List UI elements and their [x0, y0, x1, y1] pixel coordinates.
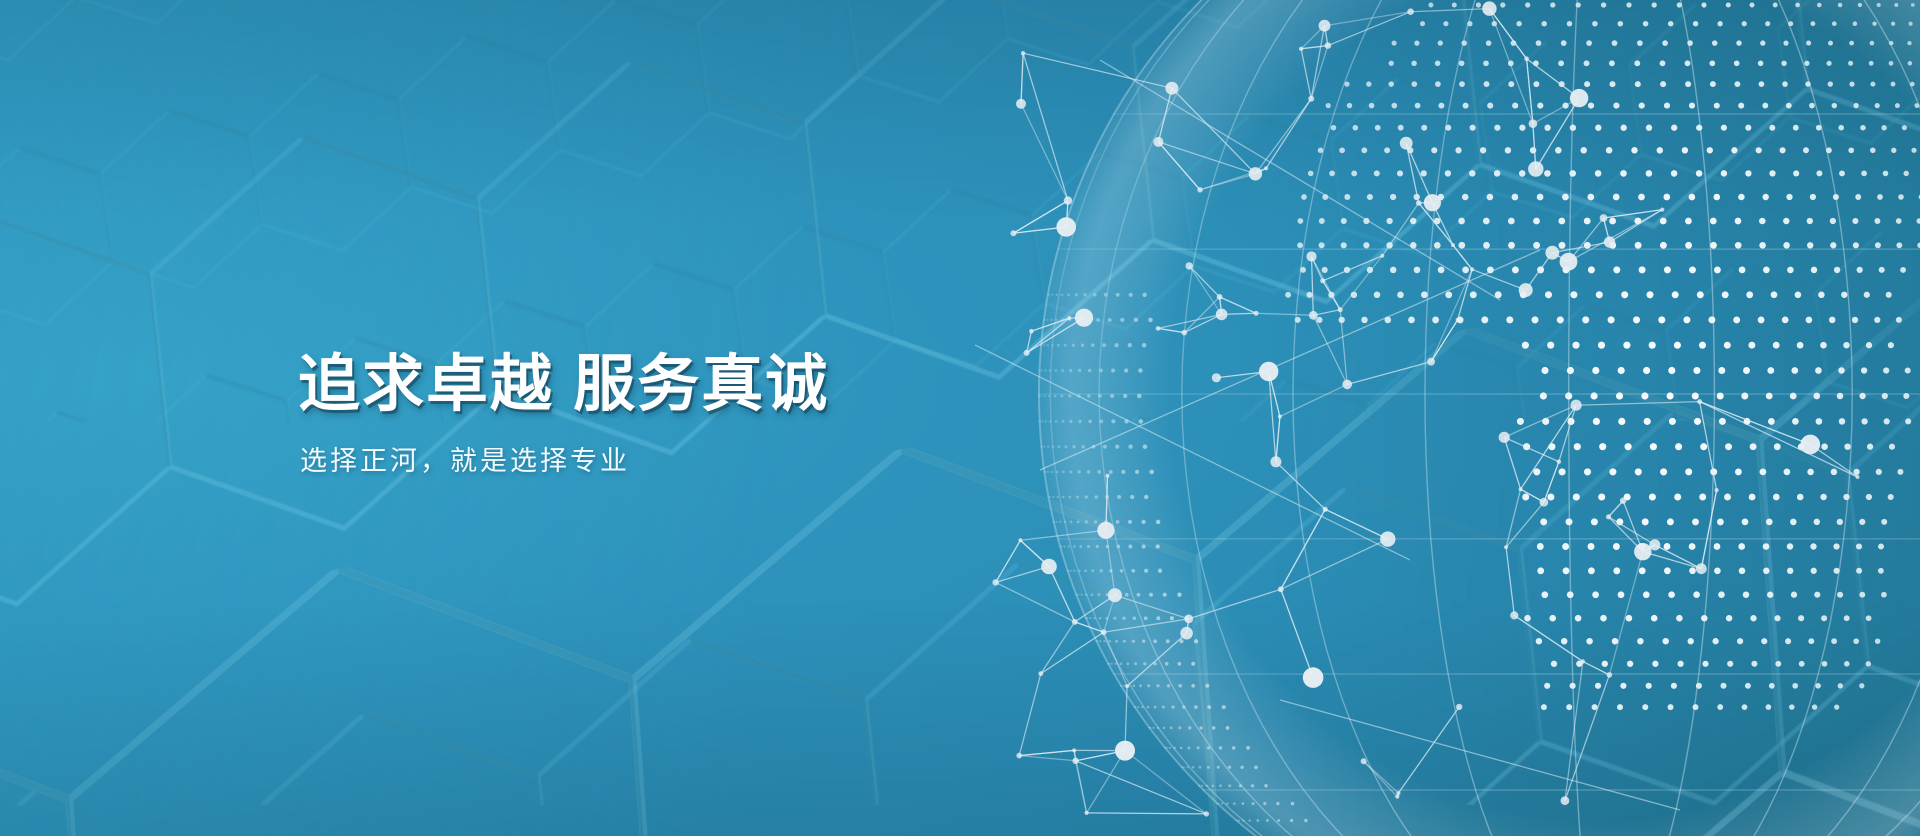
hero-banner: 追求卓越 服务真诚 选择正河，就是选择专业 — [0, 0, 1920, 836]
page-subtitle: 选择正河，就是选择专业 — [300, 445, 1018, 477]
hero-copy-block: 追求卓越 服务真诚 选择正河，就是选择专业 — [298, 352, 1018, 477]
page-title: 追求卓越 服务真诚 — [298, 352, 1018, 419]
